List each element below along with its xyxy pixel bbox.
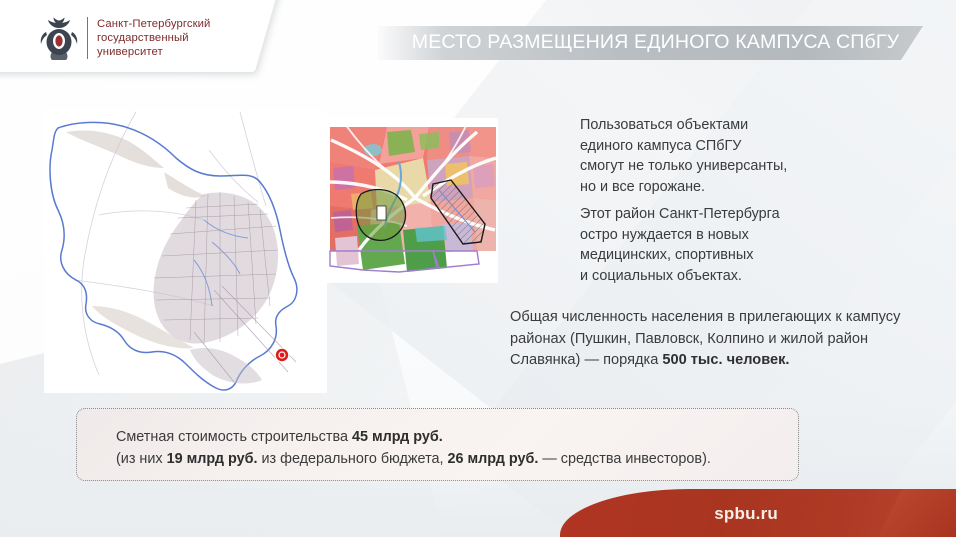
campus-zoning-detail-map[interactable]: [327, 118, 498, 283]
zoning-map-graphic: [327, 118, 498, 283]
paragraph-district-needs: Этот район Санкт-Петербурга остро нуждае…: [580, 204, 940, 286]
cost-federal-value: 19 млрд руб.: [167, 451, 258, 467]
spbu-logo: Санкт-Петербургский государственный унив…: [40, 16, 210, 60]
page-title: МЕСТО РАЗМЕЩЕНИЯ ЕДИНОГО КАМПУСА СПбГУ: [393, 31, 918, 54]
cost-total-label: Сметная стоимость строительства: [116, 429, 352, 445]
cost-total-value: 45 млрд руб.: [352, 429, 443, 445]
double-headed-eagle-icon: [40, 16, 78, 60]
paragraph-population: Общая численность населения в прилегающи…: [510, 307, 940, 372]
logo-text: Санкт-Петербургский государственный унив…: [97, 17, 210, 60]
cost-line-breakdown: (из них 19 млрд руб. из федерального бюд…: [116, 449, 796, 471]
saint-petersburg-city-map[interactable]: [44, 110, 327, 393]
cost-breakdown-prefix: (из них: [116, 451, 167, 467]
cost-line-total: Сметная стоимость строительства 45 млрд …: [116, 427, 796, 449]
footer-website-link[interactable]: spbu.ru: [714, 504, 778, 524]
paragraph-campus-access: Пользоваться объектами единого кампуса С…: [580, 115, 940, 197]
cost-federal-label: из федерального бюджета,: [257, 451, 447, 467]
cost-summary-text: Сметная стоимость строительства 45 млрд …: [116, 427, 796, 470]
cost-investors-label: — средства инвесторов).: [538, 451, 710, 467]
campus-site-outline: [356, 190, 405, 241]
campus-location-marker: [275, 348, 290, 363]
city-map-graphic: [44, 110, 327, 393]
population-value: 500 тыс. человек.: [662, 352, 789, 368]
cost-investors-value: 26 млрд руб.: [448, 451, 539, 467]
presentation-slide: Санкт-Петербургский государственный унив…: [0, 0, 956, 537]
logo-divider: [87, 17, 88, 59]
